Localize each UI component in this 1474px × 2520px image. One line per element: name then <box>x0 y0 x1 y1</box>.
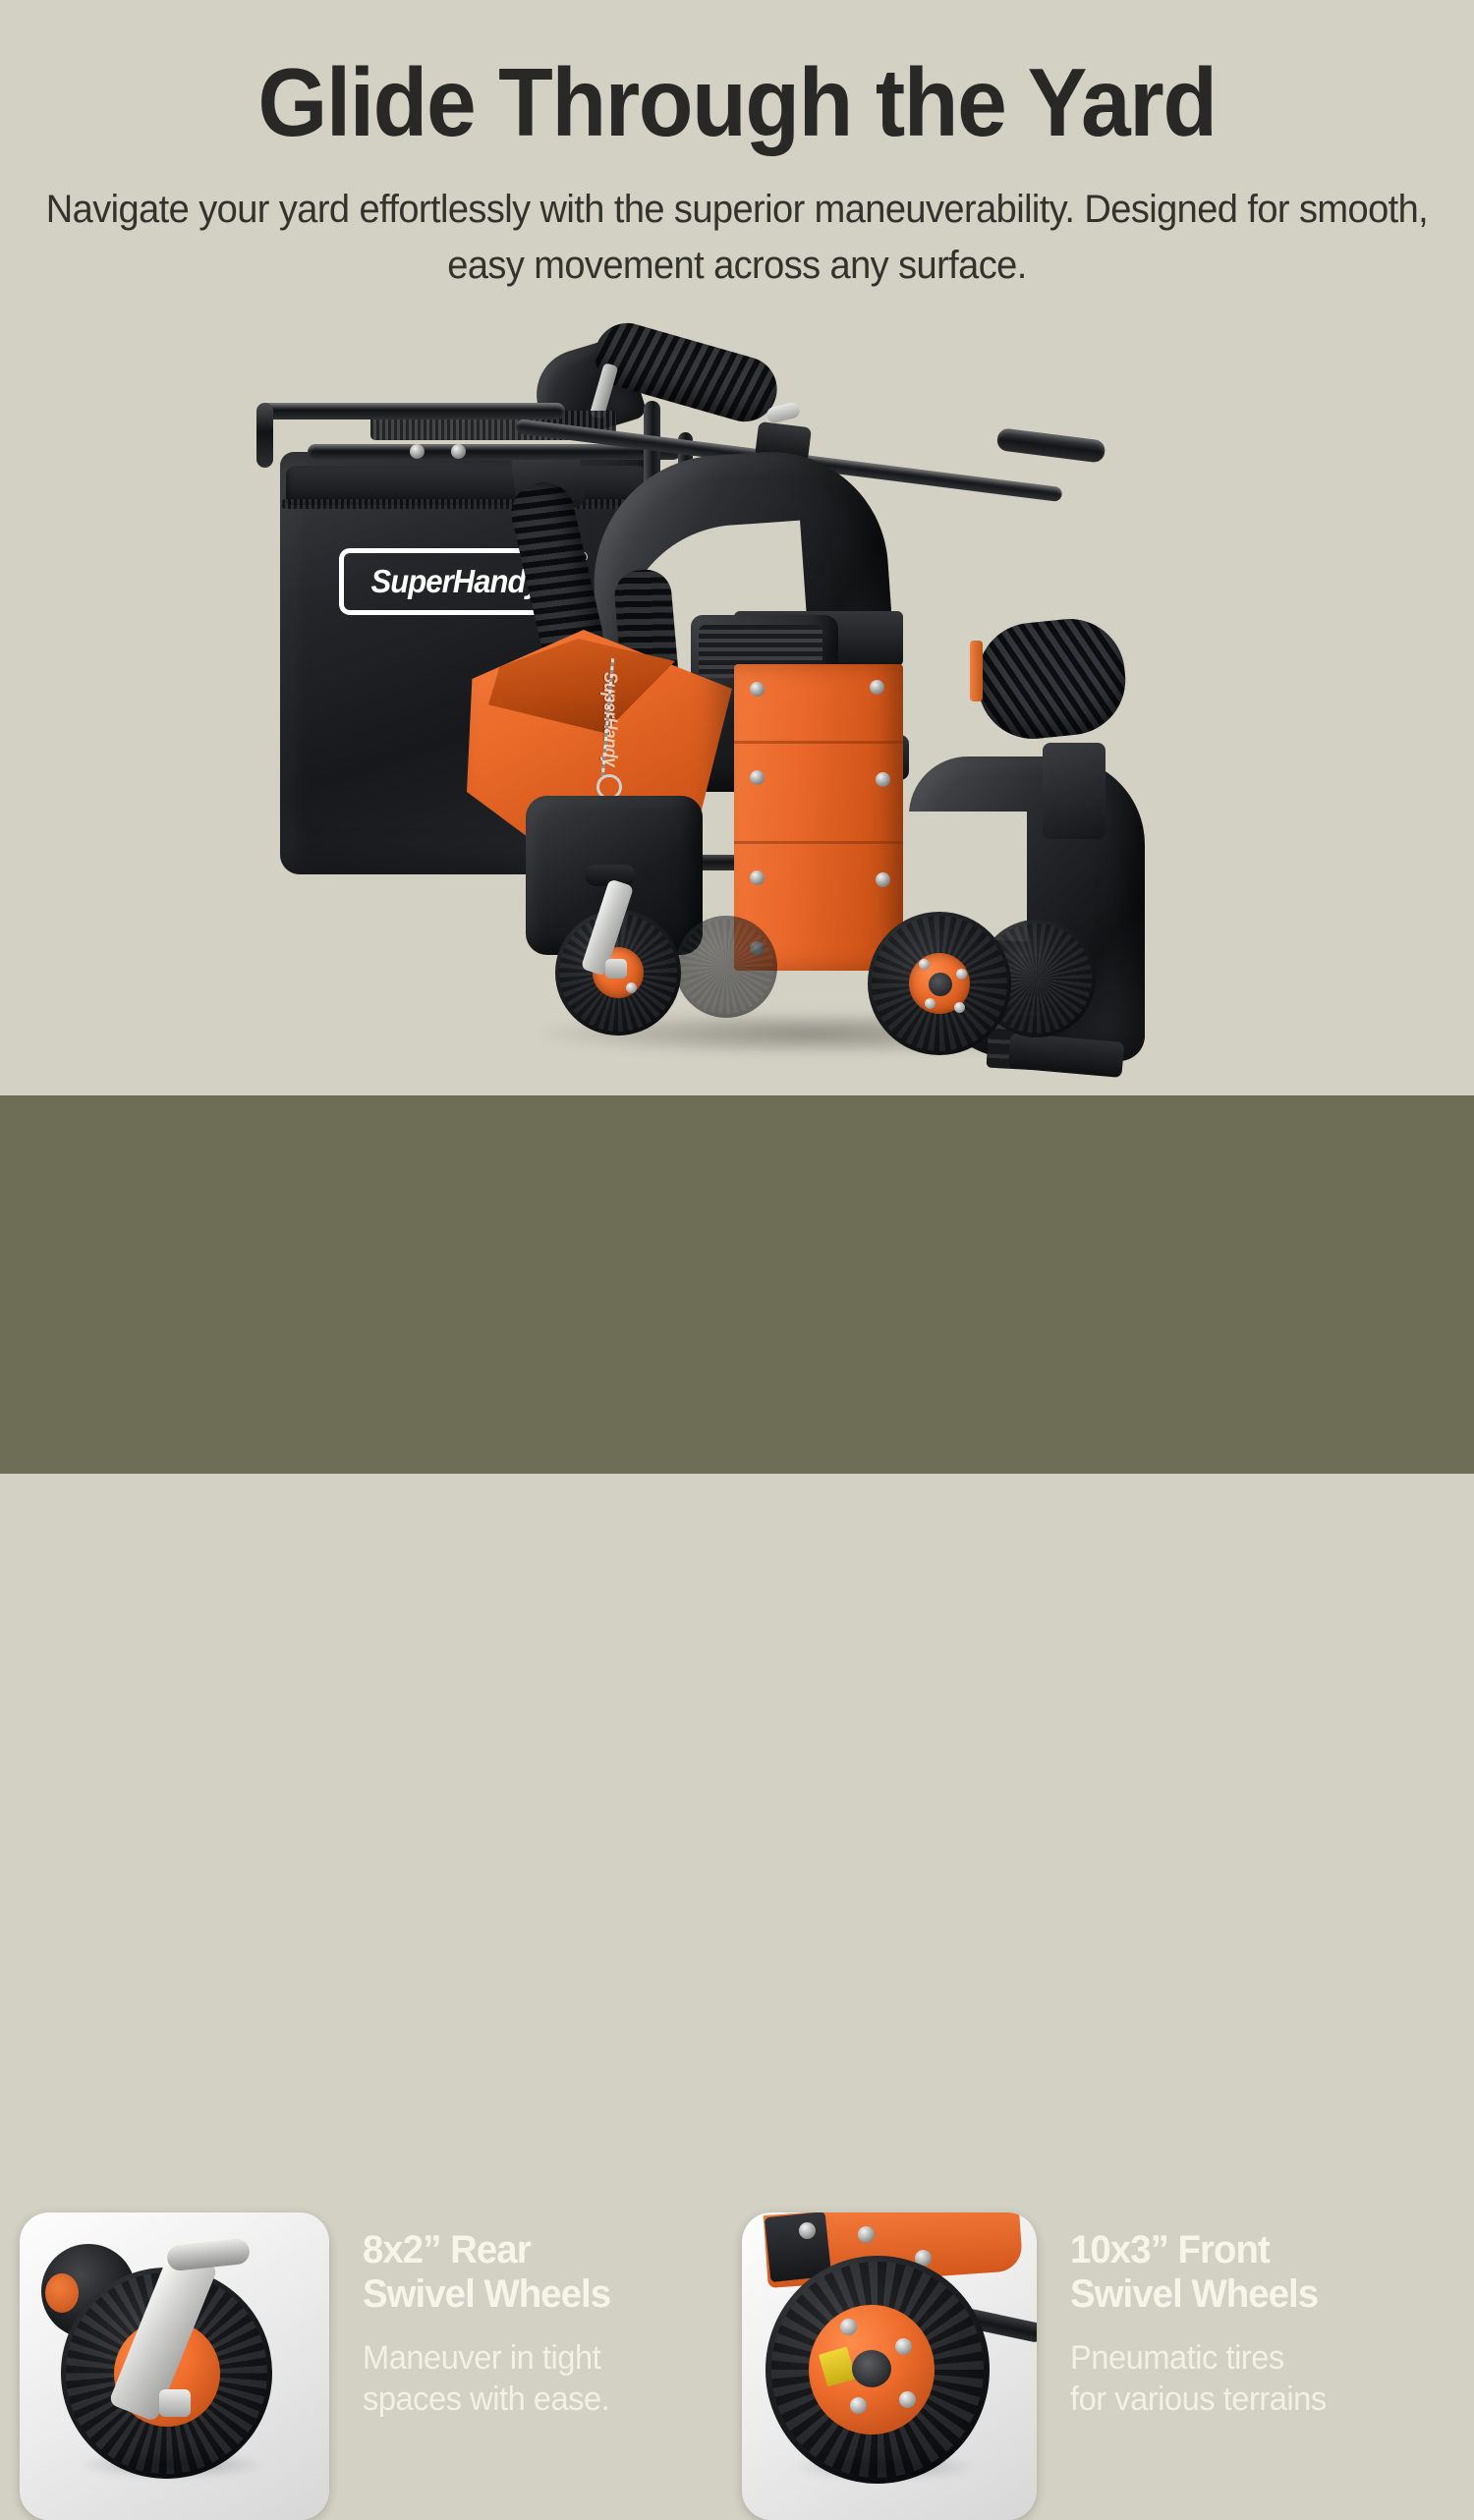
hopper-brand-label: SuperHandy <box>473 672 620 699</box>
background-wheel-hub <box>45 2273 79 2313</box>
product-marketing-image: Glide Through the Yard Navigate your yar… <box>0 0 1474 1474</box>
wheel-lug <box>956 969 967 980</box>
rear-wheel-far <box>675 916 777 1018</box>
panel-bolt <box>876 872 890 887</box>
frame-bolt <box>410 444 425 459</box>
caster-shadow <box>79 2452 265 2478</box>
wheel-lug <box>899 2391 916 2408</box>
hero-subtitle: Navigate your yard effortlessly with the… <box>37 182 1438 294</box>
pneumatic-axle <box>852 2350 891 2387</box>
panel-rib <box>734 841 903 844</box>
product-photo: SuperHandy ® <box>231 334 1223 1081</box>
features-band: 8x2” Rear Swivel Wheels Maneuver in tigh… <box>0 1095 1474 1474</box>
frame-bolt <box>451 444 466 459</box>
frame-tube-left <box>256 403 273 468</box>
feature-image-card-front <box>742 2212 1037 2520</box>
nozzle-side-plate <box>1043 743 1105 839</box>
wheel-lug <box>895 2338 912 2355</box>
caster-axle-bolt <box>605 959 627 979</box>
wheel-lug <box>850 2397 867 2414</box>
feature-title: 8x2” Rear Swivel Wheels <box>363 2228 610 2317</box>
feature-text-rear: 8x2” Rear Swivel Wheels Maneuver in tigh… <box>329 2212 621 2420</box>
front-wheel-axle <box>929 973 952 996</box>
panel-rib <box>734 741 903 744</box>
panel-bolt <box>750 870 765 885</box>
panel-bolt <box>750 682 765 697</box>
wheel-lug <box>840 2319 857 2335</box>
handlebar-grip <box>996 427 1106 464</box>
pneumatic-shadow <box>791 2454 978 2480</box>
orange-body-panel <box>734 664 903 971</box>
frame-bolt <box>799 2222 816 2239</box>
frame-bolt <box>858 2226 875 2243</box>
wheel-lug <box>925 998 935 1009</box>
feature-text-front: 10x3” Front Swivel Wheels Pneumatic tire… <box>1037 2212 1337 2420</box>
wheel-lug <box>626 982 637 993</box>
panel-bolt <box>876 772 890 787</box>
caster-swivel-cap <box>166 2238 251 2272</box>
frame-tube-top <box>258 403 565 420</box>
bag-seam <box>282 499 648 509</box>
hero-section: Glide Through the Yard Navigate your yar… <box>0 0 1474 1095</box>
feature-image-card-rear <box>20 2212 329 2520</box>
wheel-lug <box>954 1002 965 1013</box>
feature-front-wheels: 10x3” Front Swivel Wheels Pneumatic tire… <box>742 2212 1337 2520</box>
brand-logo-text: SuperHandy <box>370 563 540 600</box>
panel-bolt <box>870 680 884 695</box>
page-title: Glide Through the Yard <box>52 54 1423 150</box>
wheel-lug <box>919 959 930 970</box>
feature-description: Pneumatic tires for various terrains <box>1070 2338 1327 2420</box>
feature-rear-wheels: 8x2” Rear Swivel Wheels Maneuver in tigh… <box>20 2212 621 2520</box>
caster-hex-nut <box>159 2389 191 2417</box>
feature-title: 10x3” Front Swivel Wheels <box>1070 2228 1327 2317</box>
panel-bolt <box>750 770 765 785</box>
lower-flex-hose <box>972 613 1131 744</box>
lower-hose-clamp <box>970 641 983 701</box>
feature-description: Maneuver in tight spaces with ease. <box>363 2338 610 2420</box>
